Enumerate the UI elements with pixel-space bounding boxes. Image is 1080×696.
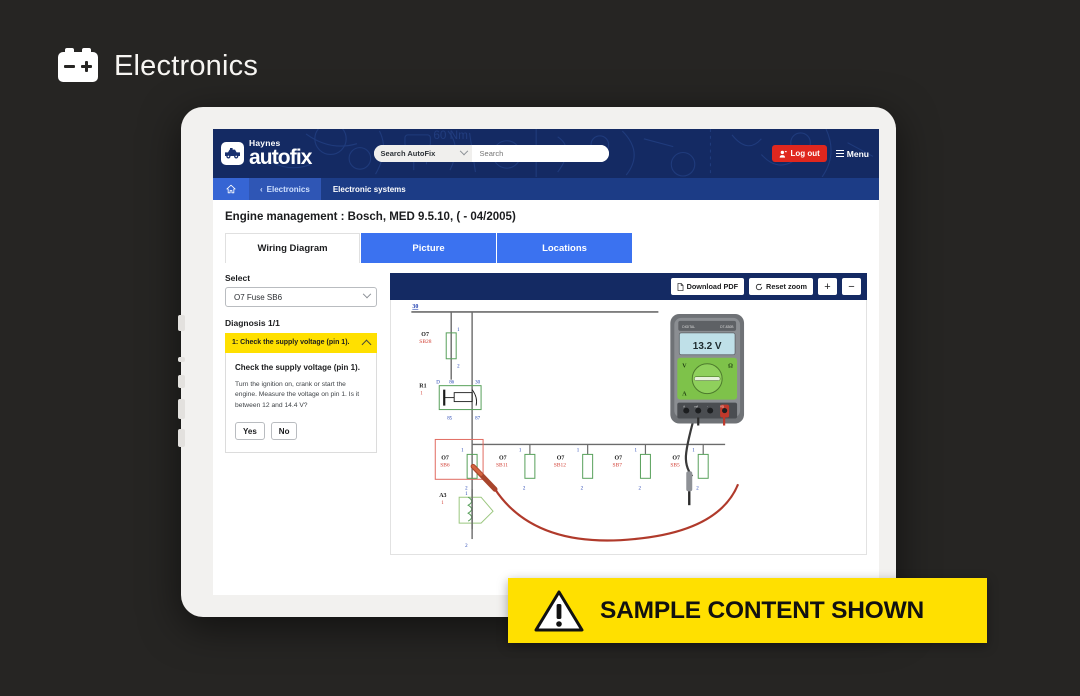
select-label: Select [225,273,377,283]
svg-text:SB11: SB11 [496,462,508,468]
sample-content-banner: SAMPLE CONTENT SHOWN [508,578,987,643]
svg-text:SB5: SB5 [670,462,680,468]
accordion-title: Check the supply voltage (pin 1). [235,362,367,374]
svg-text:2: 2 [638,486,641,491]
svg-text:85: 85 [447,417,452,422]
search-scope-select[interactable]: Search AutoFix [374,145,472,162]
reset-zoom-label: Reset zoom [766,282,807,291]
tab-wiring-diagram[interactable]: Wiring Diagram [225,233,360,263]
svg-text:1: 1 [457,328,460,333]
svg-text:DT-830B: DT-830B [720,325,734,329]
page-title: Engine management : Bosch, MED 9.5.10, (… [213,211,879,223]
chevron-down-icon [363,290,371,298]
diagnosis-accordion: 1: Check the supply voltage (pin 1). Che… [225,333,377,453]
svg-text:A: A [682,392,687,398]
wiring-diagram-graphic: 30 O7 SB28 1 2 [391,300,866,554]
app-header: 60 Nm Haynes [213,129,879,178]
svg-text:SB7: SB7 [613,462,623,468]
svg-text:2: 2 [465,486,468,491]
logout-label: Log out [790,149,819,158]
svg-text:2: 2 [523,486,526,491]
svg-text:O7: O7 [615,455,623,461]
search-group: Search AutoFix [374,145,609,162]
svg-text:O7: O7 [557,455,565,461]
diagnosis-label: Diagnosis 1/1 [225,318,377,328]
svg-text:DIGITAL: DIGITAL [682,325,695,329]
svg-text:2: 2 [465,544,468,549]
logout-button[interactable]: Log out [772,145,826,162]
refresh-icon [755,283,763,291]
menu-label: Menu [847,149,869,159]
svg-text:D: D [436,381,440,386]
svg-text:1: 1 [441,501,444,506]
svg-text:2: 2 [457,365,460,370]
svg-text:-: - [707,406,708,409]
menu-button[interactable]: Menu [836,149,869,159]
svg-text:SB6: SB6 [440,462,450,468]
viewer-toolbar: Download PDF Reset zoom + − [390,273,867,300]
multimeter-graphic: DIGITAL DT-830B 13.2 V V Ω A [670,314,744,426]
breadcrumb: ‹ Electronics Electronic systems [213,178,879,200]
fuse-select-value: O7 Fuse SB6 [234,293,282,302]
home-icon [226,184,236,194]
breadcrumb-item-electronics[interactable]: ‹ Electronics [249,178,321,200]
sample-content-label: SAMPLE CONTENT SHOWN [600,597,924,625]
battery-icon [58,52,98,82]
tab-bar: Wiring Diagram Picture Locations [213,233,879,263]
chevron-left-icon: ‹ [260,185,263,194]
download-pdf-label: Download PDF [687,282,738,291]
svg-text:1: 1 [461,448,464,453]
fuse-select[interactable]: O7 Fuse SB6 [225,287,377,307]
wiring-diagram-viewer[interactable]: 30 O7 SB28 1 2 [390,300,867,555]
svg-text:A3: A3 [439,493,446,499]
svg-text:2: 2 [696,486,699,491]
svg-text:V: V [682,364,687,370]
tablet-side-button [178,375,185,388]
svg-text:A: A [683,405,685,409]
zoom-out-button[interactable]: − [842,278,861,295]
chevron-down-icon [459,146,467,154]
viewer-panel: Download PDF Reset zoom + − [390,263,867,555]
answer-buttons: Yes No [235,422,367,440]
svg-text:SB28: SB28 [419,339,431,345]
content-row: Select O7 Fuse SB6 Diagnosis 1/1 1: Chec… [213,263,879,555]
reset-zoom-button[interactable]: Reset zoom [749,278,813,295]
accordion-header-label: 1: Check the supply voltage (pin 1). [232,338,349,347]
haynes-car-icon [221,142,244,165]
svg-text:R1: R1 [419,384,426,390]
svg-text:87: 87 [475,417,480,422]
svg-text:mA: mA [694,405,698,409]
accordion-header[interactable]: 1: Check the supply voltage (pin 1). [225,333,377,353]
svg-text:1: 1 [577,448,580,453]
breadcrumb-current: Electronic systems [321,178,418,200]
user-icon [779,150,787,158]
download-pdf-button[interactable]: Download PDF [671,278,744,295]
document-icon [677,283,684,291]
brand-title: Electronics [114,50,258,83]
chevron-up-icon [362,340,372,350]
tablet-side-button [178,399,185,419]
svg-text:SB12: SB12 [554,462,566,468]
svg-text:VΩ: VΩ [720,405,724,409]
zoom-in-button[interactable]: + [818,278,837,295]
breadcrumb-parent-label: Electronics [267,185,310,194]
tab-locations[interactable]: Locations [497,233,632,263]
page-body: Engine management : Bosch, MED 9.5.10, (… [213,200,879,595]
svg-text:60 Nm: 60 Nm [433,129,468,142]
svg-text:O7: O7 [421,332,429,338]
svg-text:30: 30 [475,381,480,386]
tablet-screen: 60 Nm Haynes [213,129,879,595]
tablet-frame: 60 Nm Haynes [181,107,896,617]
multimeter-reading: 13.2 V [693,341,722,352]
accordion-text: Turn the ignition on, crank or start the… [235,380,367,413]
breadcrumb-home[interactable] [213,178,249,200]
svg-text:1: 1 [692,448,695,453]
tablet-side-button [178,357,185,362]
logo-autofix-text: autofix [249,147,312,168]
yes-button[interactable]: Yes [235,422,265,440]
svg-text:1: 1 [420,392,423,397]
search-input[interactable] [472,145,609,162]
tablet-side-button [178,315,185,331]
haynes-car-glyph [224,147,241,160]
diagram-bus-label: 30 [412,304,418,310]
svg-text:1: 1 [634,448,637,453]
accordion-body: Check the supply voltage (pin 1). Turn t… [225,353,377,453]
no-button[interactable]: No [271,422,298,440]
svg-text:86: 86 [449,381,454,386]
svg-text:Ω: Ω [728,364,733,370]
screenshot-root: Electronics [0,0,1080,696]
svg-text:1: 1 [519,448,522,453]
tab-picture[interactable]: Picture [361,233,496,263]
svg-text:2: 2 [581,486,584,491]
hamburger-icon [836,149,844,159]
svg-text:1: 1 [465,492,468,497]
warning-triangle-icon [534,589,584,633]
app-logo[interactable]: Haynes autofix [221,139,312,168]
tablet-side-button [178,429,185,447]
svg-text:O7: O7 [441,455,449,461]
sidebar-panel: Select O7 Fuse SB6 Diagnosis 1/1 1: Chec… [225,263,377,555]
search-scope-label: Search AutoFix [381,149,436,158]
svg-text:O7: O7 [672,455,680,461]
header-actions: Log out Menu [772,145,869,162]
brand-header: Electronics [58,50,258,83]
svg-text:O7: O7 [499,455,507,461]
